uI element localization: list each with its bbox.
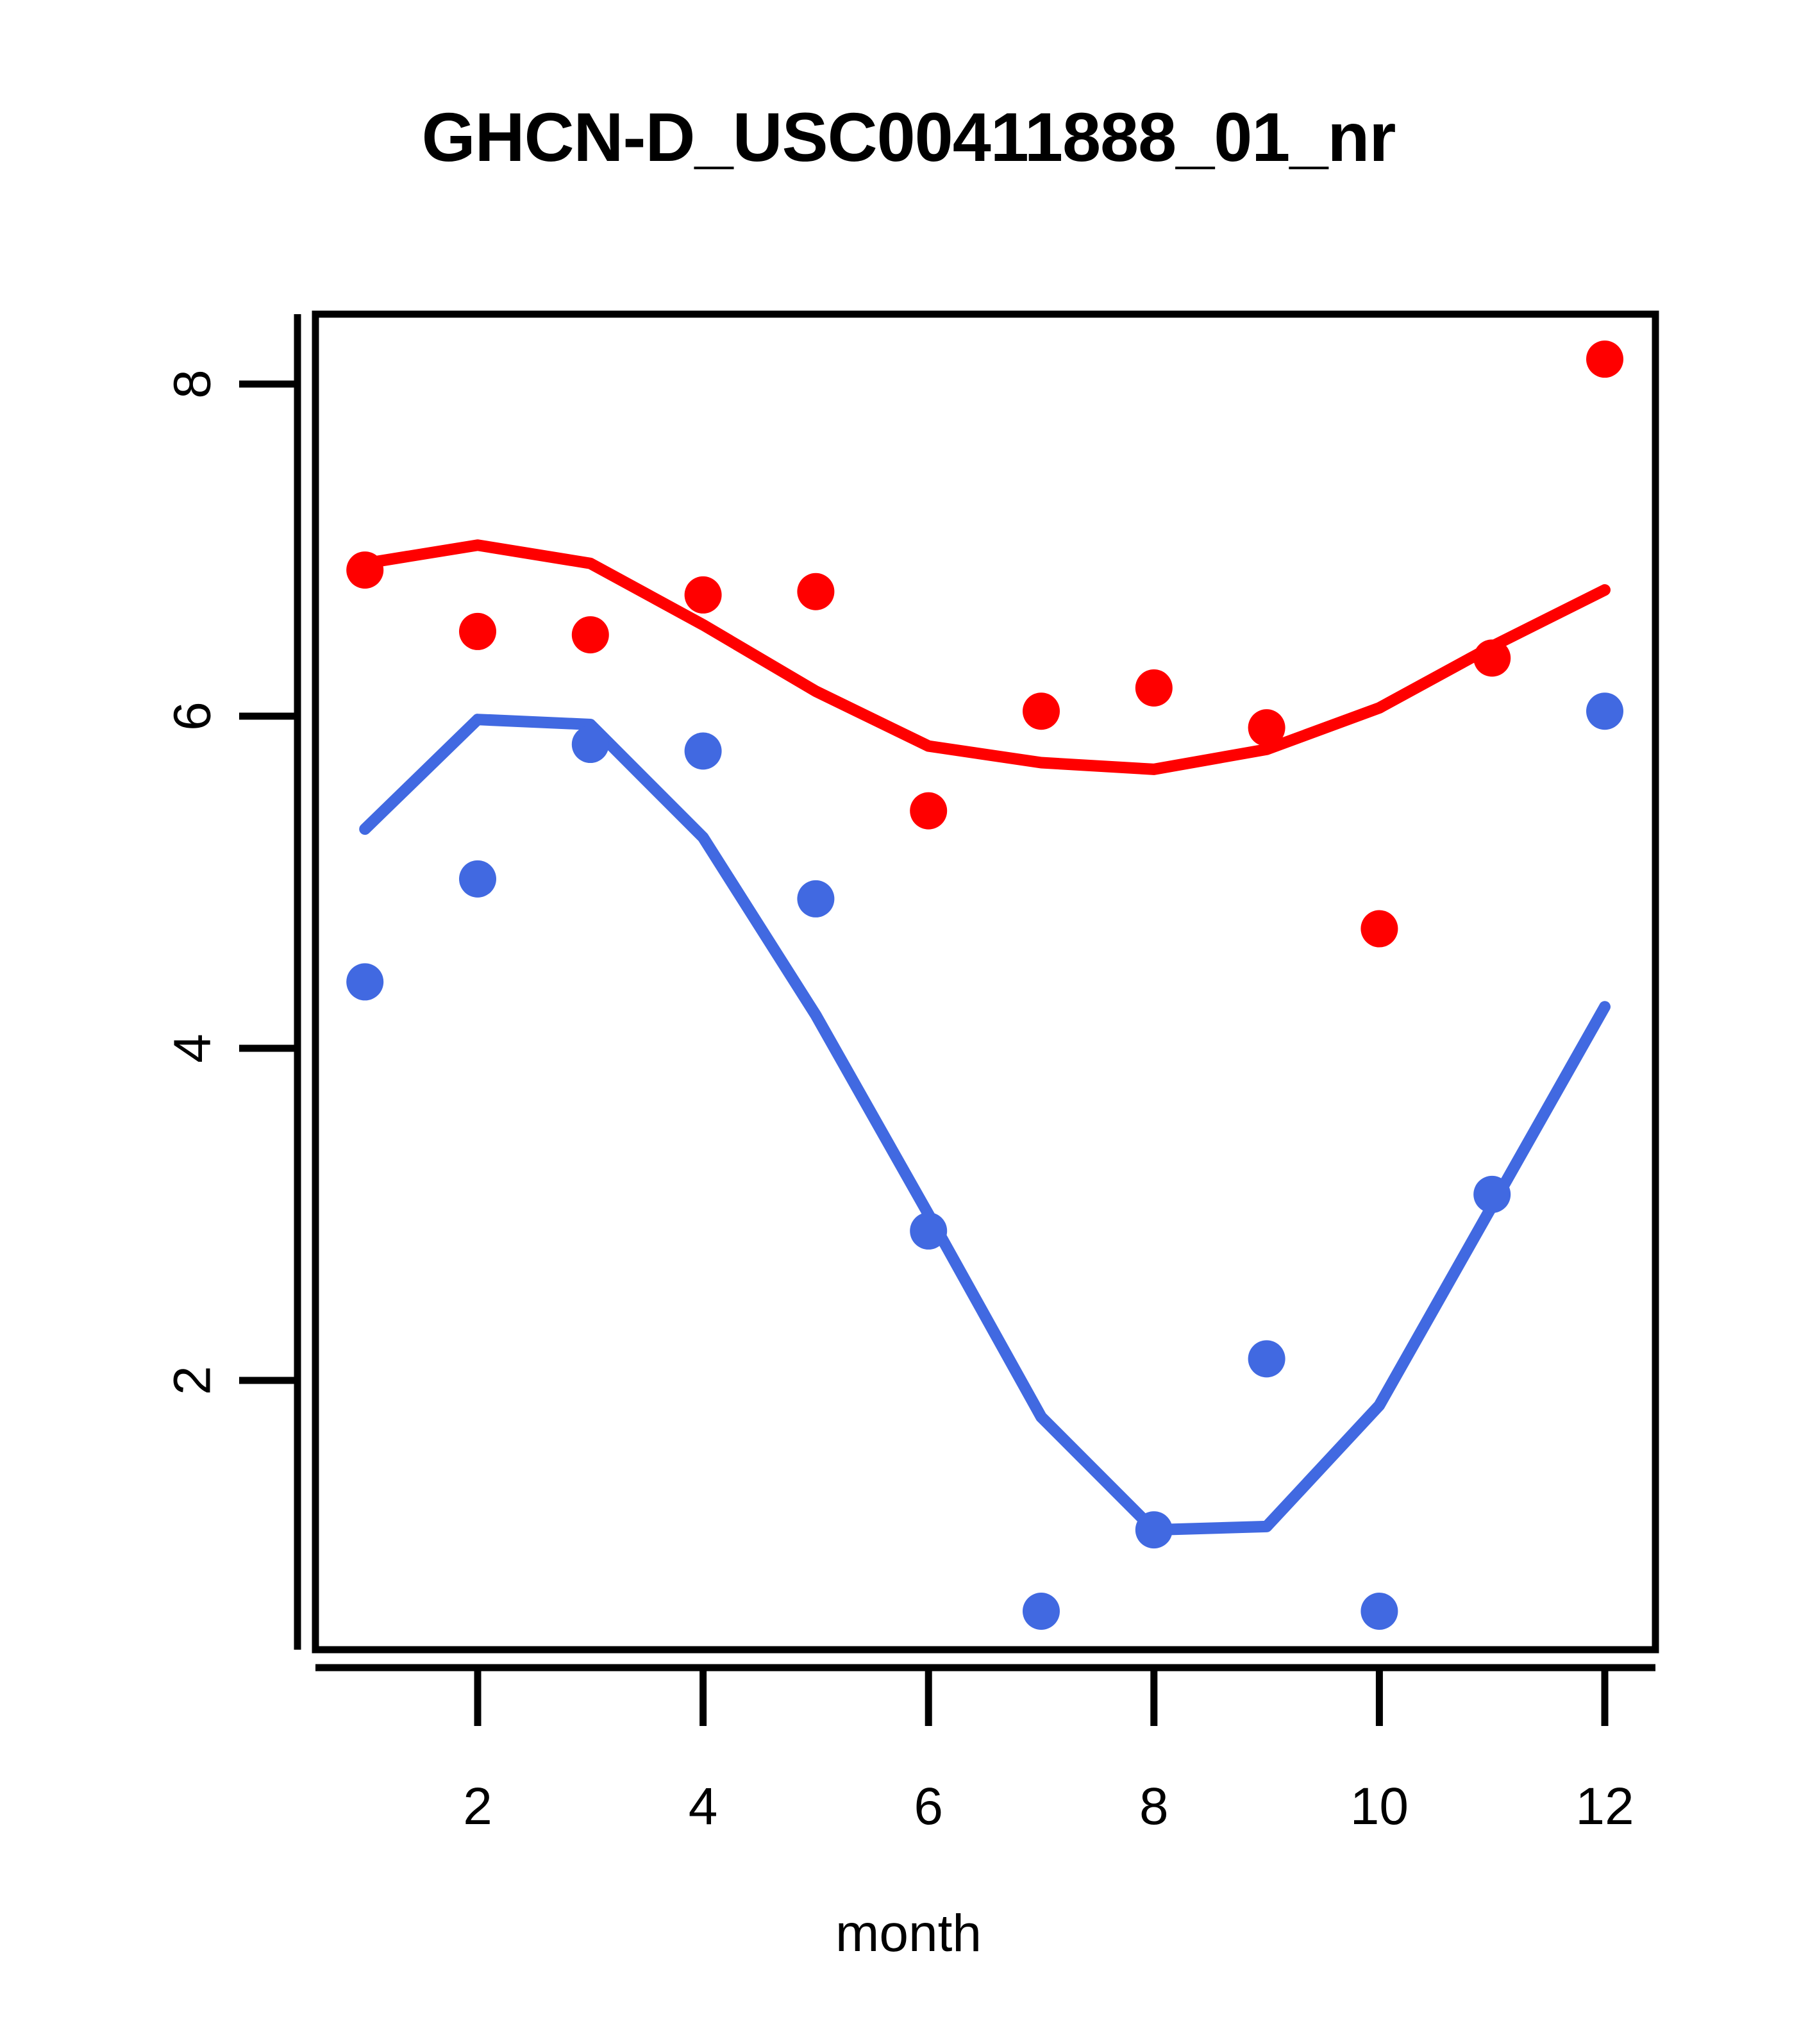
y-axis-ticks [239, 384, 297, 1380]
y-axis-tick-labels: 2468 [163, 369, 222, 1395]
x-tick-label-10: 10 [1350, 1777, 1409, 1836]
data-point [797, 573, 834, 610]
data-point [1473, 639, 1511, 676]
series-points [346, 340, 1623, 1630]
red-smooth-line [365, 545, 1605, 769]
y-tick-label-4: 4 [163, 1034, 222, 1063]
x-tick-label-2: 2 [463, 1777, 492, 1836]
x-axis: 24681012 [315, 1668, 1655, 1836]
data-point [685, 576, 722, 614]
data-point [1023, 692, 1060, 730]
data-point [1135, 1511, 1173, 1548]
data-point [1473, 1176, 1511, 1213]
data-point [910, 1212, 947, 1250]
data-point [1361, 910, 1398, 948]
series-lines [365, 545, 1605, 1530]
data-point [346, 963, 383, 1000]
data-point [459, 613, 496, 650]
x-tick-label-4: 4 [689, 1777, 718, 1836]
x-tick-label-8: 8 [1139, 1777, 1169, 1836]
data-point [1586, 340, 1623, 378]
y-tick-label-6: 6 [163, 701, 222, 731]
data-point [1135, 669, 1173, 707]
y-axis: 2468 [163, 314, 298, 1650]
data-point [1361, 1593, 1398, 1630]
data-point [459, 860, 496, 898]
data-point [685, 732, 722, 769]
data-point [572, 726, 609, 763]
x-axis-ticks [478, 1668, 1605, 1726]
plot-frame [315, 314, 1655, 1650]
y-tick-label-8: 8 [163, 369, 222, 399]
data-point [1586, 692, 1623, 730]
data-point [346, 551, 383, 589]
plot-figure: GHCN-D_USC00411888_01_nr 24681012 2468 m… [0, 0, 1817, 2044]
data-point [797, 880, 834, 917]
scatter-plot-canvas: 24681012 2468 [0, 0, 1817, 2044]
blue-smooth-line [365, 719, 1605, 1530]
x-axis-tick-labels: 24681012 [463, 1777, 1634, 1836]
blue-points [346, 692, 1623, 1630]
data-point [1248, 709, 1285, 746]
x-tick-label-12: 12 [1575, 1777, 1634, 1836]
data-point [572, 616, 609, 653]
data-point [1023, 1593, 1060, 1630]
y-tick-label-2: 2 [163, 1366, 222, 1395]
data-point [910, 792, 947, 830]
red-points [346, 340, 1623, 947]
x-tick-label-6: 6 [914, 1777, 943, 1836]
x-axis-label: month [0, 1907, 1817, 1960]
data-point [1248, 1340, 1285, 1377]
